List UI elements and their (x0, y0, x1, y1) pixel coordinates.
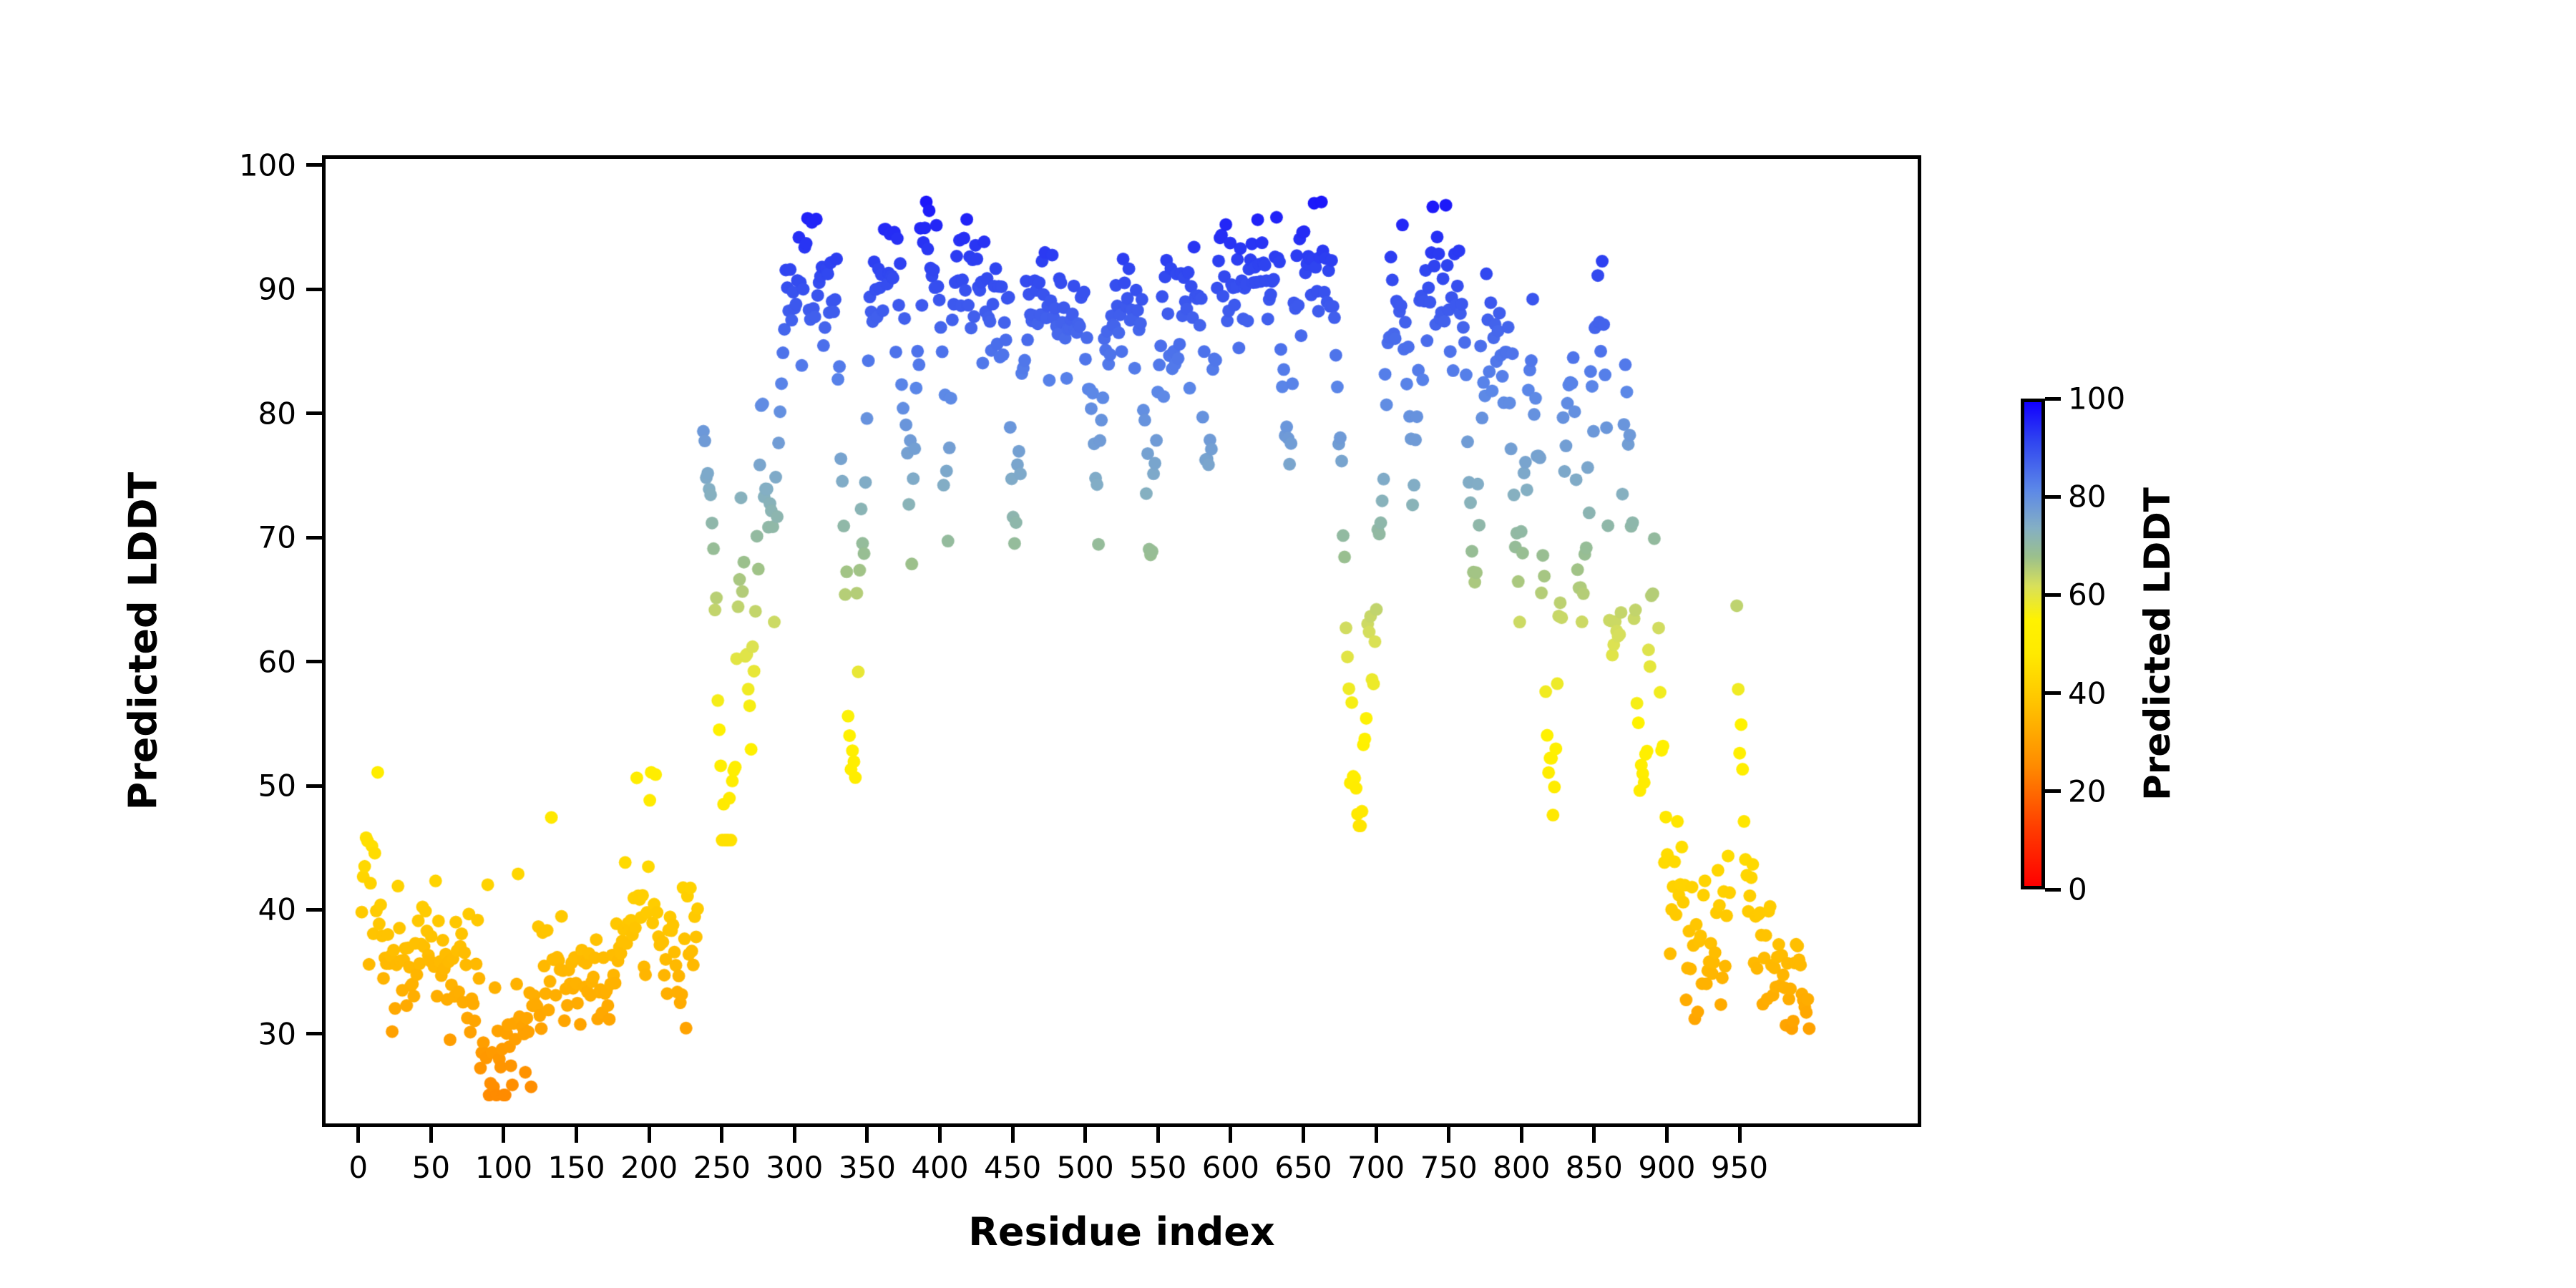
y-tick-mark (306, 660, 322, 663)
x-tick-mark (1156, 1127, 1160, 1143)
x-tick-mark (1738, 1127, 1742, 1143)
x-tick-mark (1302, 1127, 1305, 1143)
colorbar-title: Predicted LDDT (2137, 487, 2178, 801)
colorbar-tick-mark (2045, 397, 2061, 401)
scatter-plot-canvas (326, 159, 1918, 1123)
y-tick-mark (306, 163, 322, 167)
colorbar-tick-mark (2045, 593, 2061, 597)
plot-area (322, 155, 1921, 1127)
y-tick-mark (306, 411, 322, 415)
colorbar-tick-label: 100 (2068, 381, 2125, 416)
x-tick-label: 950 (1668, 1150, 1811, 1185)
y-tick-label: 30 (153, 1016, 296, 1051)
colorbar (2021, 399, 2045, 889)
colorbar-tick-mark (2045, 888, 2061, 892)
x-tick-mark (1229, 1127, 1232, 1143)
y-tick-mark (306, 536, 322, 540)
x-tick-mark (356, 1127, 360, 1143)
y-tick-mark (306, 1032, 322, 1035)
colorbar-tick-label: 40 (2068, 675, 2106, 711)
x-tick-mark (865, 1127, 869, 1143)
x-tick-mark (648, 1127, 651, 1143)
colorbar-tick-label: 0 (2068, 872, 2087, 907)
y-axis-title: Predicted LDDT (121, 472, 166, 811)
x-tick-mark (938, 1127, 942, 1143)
x-tick-mark (1375, 1127, 1378, 1143)
x-axis-title: Residue index (322, 1209, 1921, 1254)
x-tick-mark (720, 1127, 723, 1143)
y-tick-label: 40 (153, 892, 296, 927)
y-tick-mark (306, 784, 322, 788)
x-tick-mark (1011, 1127, 1015, 1143)
x-tick-mark (1592, 1127, 1596, 1143)
x-tick-mark (1083, 1127, 1087, 1143)
x-tick-mark (1665, 1127, 1669, 1143)
y-tick-mark (306, 288, 322, 291)
colorbar-tick-label: 80 (2068, 479, 2106, 514)
colorbar-gradient (2021, 399, 2045, 889)
colorbar-tick-mark (2045, 495, 2061, 499)
y-tick-label: 70 (153, 520, 296, 555)
y-tick-label: 90 (153, 272, 296, 307)
x-tick-mark (1447, 1127, 1450, 1143)
chart-root: 30405060708090100 0501001502002503003504… (0, 0, 2576, 1288)
colorbar-tick-label: 60 (2068, 577, 2106, 613)
colorbar-tick-mark (2045, 691, 2061, 695)
x-tick-mark (502, 1127, 505, 1143)
y-tick-label: 50 (153, 769, 296, 804)
x-tick-mark (1520, 1127, 1523, 1143)
x-tick-mark (793, 1127, 796, 1143)
colorbar-tick-mark (2045, 789, 2061, 793)
x-tick-mark (429, 1127, 433, 1143)
y-tick-label: 60 (153, 644, 296, 679)
y-tick-label: 80 (153, 396, 296, 431)
y-tick-label: 100 (153, 147, 296, 182)
y-tick-mark (306, 908, 322, 912)
colorbar-tick-label: 20 (2068, 774, 2106, 809)
x-tick-mark (575, 1127, 578, 1143)
